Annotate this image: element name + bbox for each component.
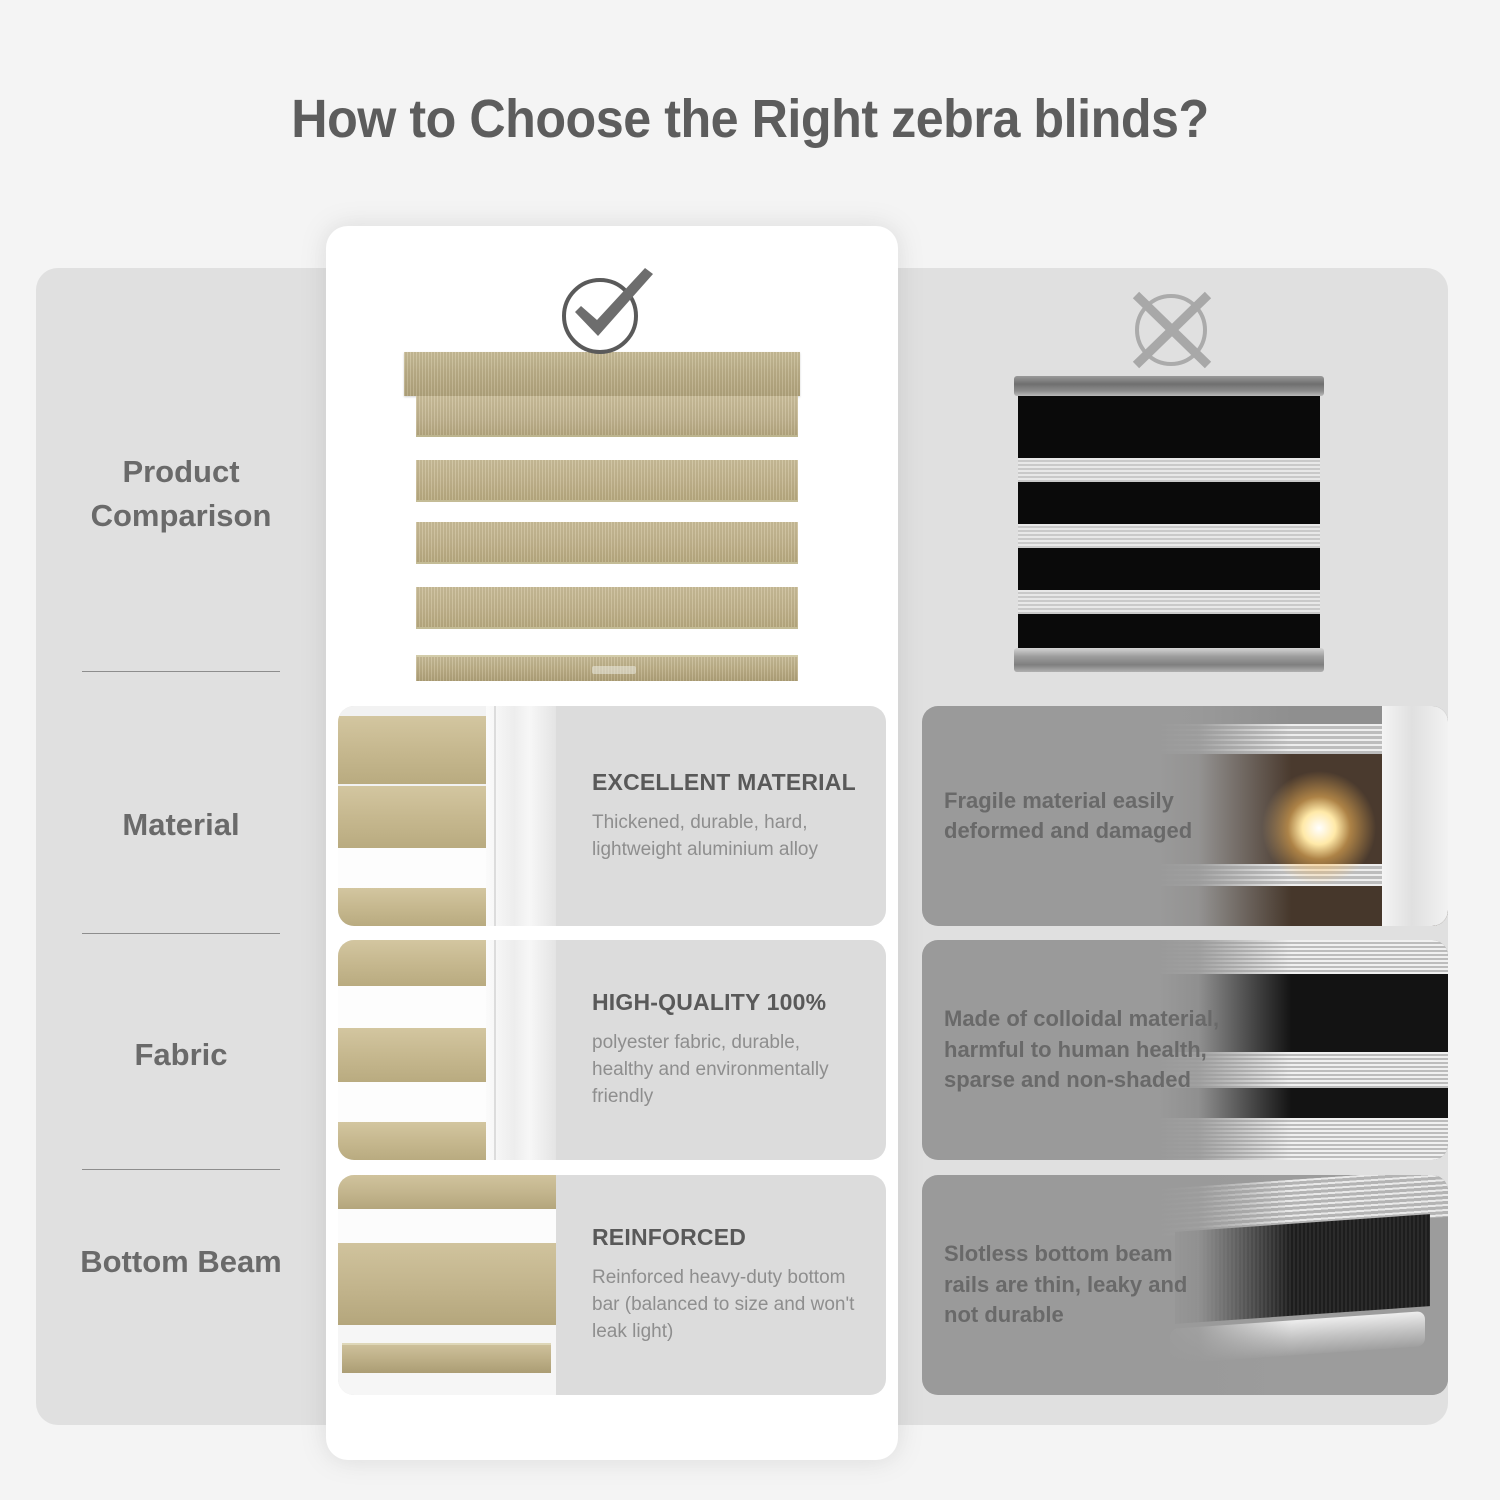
cross-circle-icon	[1122, 284, 1220, 376]
blind-headrail	[1014, 376, 1324, 396]
blind-band	[416, 460, 798, 502]
beige-blind-window-frame-photo	[338, 706, 556, 926]
beige-blind-bottom-bar-photo	[338, 1175, 556, 1395]
blind-fabric	[1018, 396, 1320, 648]
check-circle-icon	[553, 262, 661, 358]
drawback-card-fabric-bad: Made of colloidal material, harmful to h…	[922, 940, 1448, 1160]
drawback-card-material-bad: Fragile material easily deformed and dam…	[922, 706, 1448, 926]
blind-band	[416, 522, 798, 564]
row-label-material: Material	[36, 803, 326, 847]
blind-sheer-band	[1018, 458, 1320, 482]
infographic-canvas: How to Choose the Right zebra blinds? Pr…	[0, 0, 1500, 1500]
blind-band	[416, 587, 798, 629]
row-divider	[82, 933, 280, 934]
card-text-block: HIGH-QUALITY 100% polyester fabric, dura…	[556, 940, 886, 1160]
blind-bottom-bar	[416, 655, 798, 681]
drawback-text: Made of colloidal material, harmful to h…	[922, 1004, 1222, 1095]
product-image-beige-zebra-blind	[390, 352, 830, 704]
feature-card-material-good: EXCELLENT MATERIAL Thickened, durable, h…	[338, 706, 886, 926]
card-description: Thickened, durable, hard, lightweight al…	[592, 810, 866, 864]
blind-sheer-band	[1018, 590, 1320, 614]
row-divider	[82, 1169, 280, 1170]
card-heading: HIGH-QUALITY 100%	[592, 989, 866, 1016]
card-heading: EXCELLENT MATERIAL	[592, 769, 866, 796]
row-divider	[82, 671, 280, 672]
card-text-block: REINFORCED Reinforced heavy-duty bottom …	[556, 1175, 886, 1395]
beige-blind-fabric-photo	[338, 940, 556, 1160]
card-heading: REINFORCED	[592, 1224, 866, 1251]
drawback-text: Slotless bottom beam rails are thin, lea…	[922, 1239, 1222, 1330]
drawback-text: Fragile material easily deformed and dam…	[922, 786, 1222, 847]
feature-card-bottom-beam-good: REINFORCED Reinforced heavy-duty bottom …	[338, 1175, 886, 1395]
row-label-fabric: Fabric	[36, 1033, 326, 1077]
blind-top-band	[416, 396, 798, 437]
row-label-bottom-beam: Bottom Beam	[36, 1240, 326, 1284]
drawback-card-bottom-beam-bad: Slotless bottom beam rails are thin, lea…	[922, 1175, 1448, 1395]
blind-sheer-band	[1018, 524, 1320, 548]
blind-bottom-rail	[1014, 648, 1324, 672]
feature-card-fabric-good: HIGH-QUALITY 100% polyester fabric, dura…	[338, 940, 886, 1160]
row-label-column: Product Comparison Material Fabric Botto…	[36, 268, 326, 1425]
page-title: How to Choose the Right zebra blinds?	[53, 88, 1448, 150]
row-label-product-comparison: Product Comparison	[36, 450, 326, 538]
card-description: Reinforced heavy-duty bottom bar (balanc…	[592, 1265, 866, 1346]
blind-headrail	[404, 352, 800, 396]
card-text-block: EXCELLENT MATERIAL Thickened, durable, h…	[556, 706, 886, 926]
card-description: polyester fabric, durable, healthy and e…	[592, 1030, 866, 1111]
product-image-black-zebra-blind	[1014, 376, 1324, 676]
